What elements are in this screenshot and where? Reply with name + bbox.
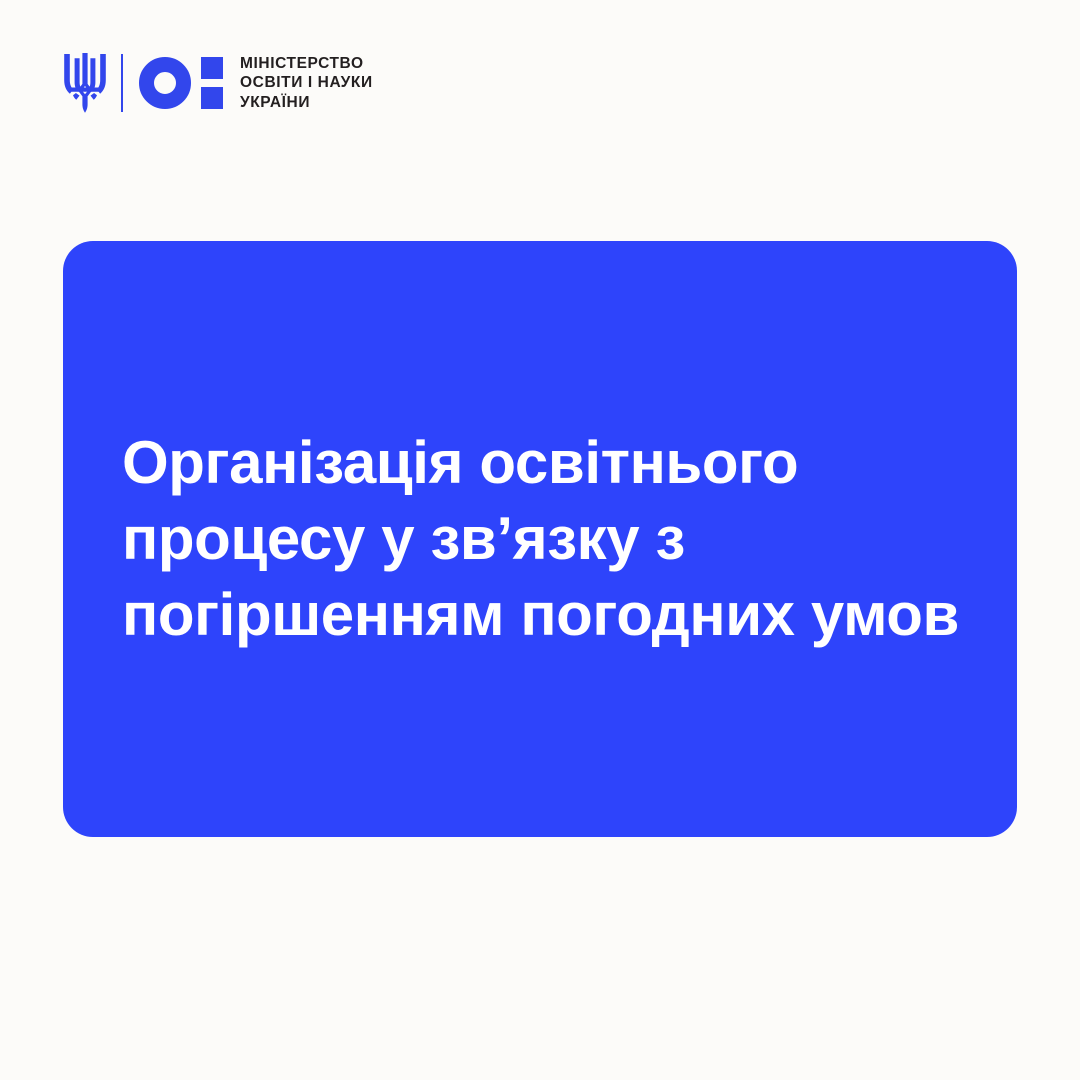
wordmark-line-3: УКРАЇНИ <box>240 93 373 113</box>
mon-logomark-icon <box>139 57 223 109</box>
poster-canvas: МІНІСТЕРСТВО ОСВІТИ І НАУКИ УКРАЇНИ Орга… <box>0 0 1080 1080</box>
wordmark-line-1: МІНІСТЕРСТВО <box>240 54 373 74</box>
logomark-square-bottom <box>201 87 223 109</box>
logo-divider <box>121 54 123 112</box>
ukrainian-trident-emblem-icon <box>63 52 107 114</box>
ministry-wordmark: МІНІСТЕРСТВО ОСВІТИ І НАУКИ УКРАЇНИ <box>240 54 373 113</box>
logomark-squares-icon <box>201 57 223 109</box>
wordmark-line-2: ОСВІТИ І НАУКИ <box>240 73 373 93</box>
hero-card: Організація освітнього процесу у зв’язку… <box>63 241 1017 837</box>
page-title: Організація освітнього процесу у зв’язку… <box>63 425 1017 653</box>
logomark-square-top <box>201 57 223 79</box>
logomark-ring-icon <box>139 57 191 109</box>
ministry-logo-lockup[interactable]: МІНІСТЕРСТВО ОСВІТИ І НАУКИ УКРАЇНИ <box>63 50 373 116</box>
